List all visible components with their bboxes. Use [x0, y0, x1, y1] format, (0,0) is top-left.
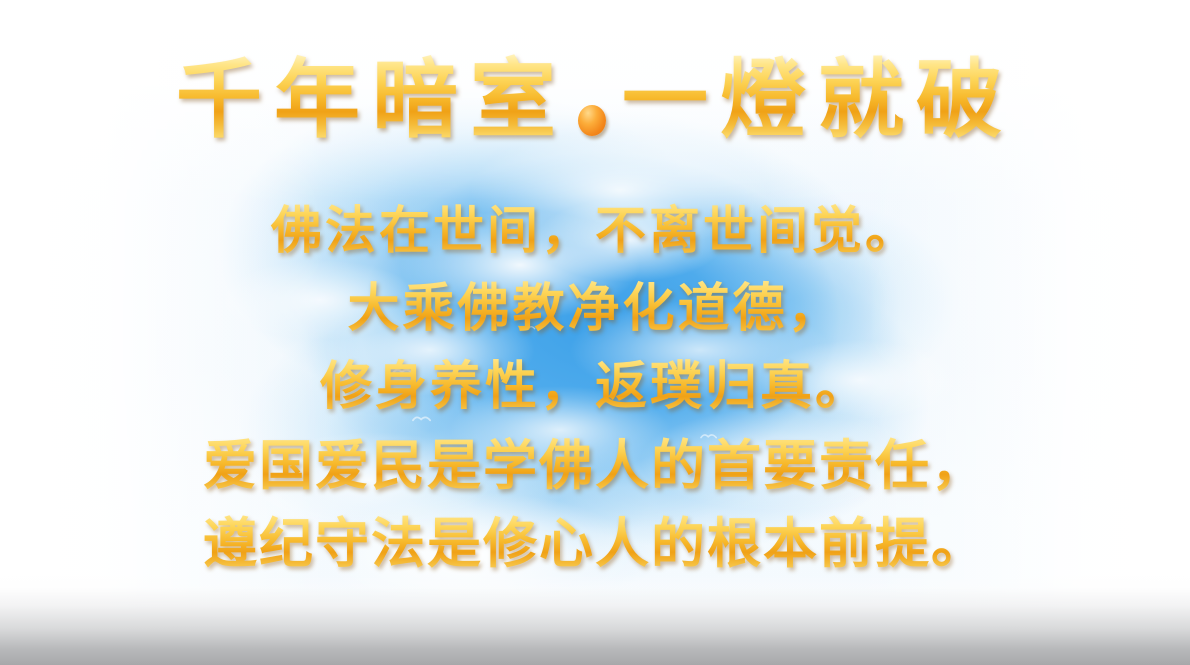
poster-canvas: 千年暗室一燈就破 佛法在世间，不离世间觉。 大乘佛教净化道德， 修身养性，返璞归…: [0, 0, 1190, 665]
verse-line-3: 修身养性，返璞归真。: [0, 348, 1190, 426]
verse-line-2: 大乘佛教净化道德，: [0, 270, 1190, 348]
verse-line-4: 爱国爱民是学佛人的首要责任，: [0, 426, 1190, 504]
poster-content: 千年暗室一燈就破 佛法在世间，不离世间觉。 大乘佛教净化道德， 修身养性，返璞归…: [0, 0, 1190, 665]
title-part-one: 千年暗室: [176, 52, 568, 148]
verse-block: 佛法在世间，不离世间觉。 大乘佛教净化道德， 修身养性，返璞归真。 爱国爱民是学…: [0, 192, 1190, 582]
verse-line-5: 遵纪守法是修心人的根本前提。: [0, 504, 1190, 582]
verse-line-1: 佛法在世间，不离世间觉。: [0, 192, 1190, 270]
page-title: 千年暗室一燈就破: [0, 52, 1190, 151]
title-part-two: 一燈就破: [622, 52, 1014, 148]
orange-dot-icon: [578, 99, 608, 137]
